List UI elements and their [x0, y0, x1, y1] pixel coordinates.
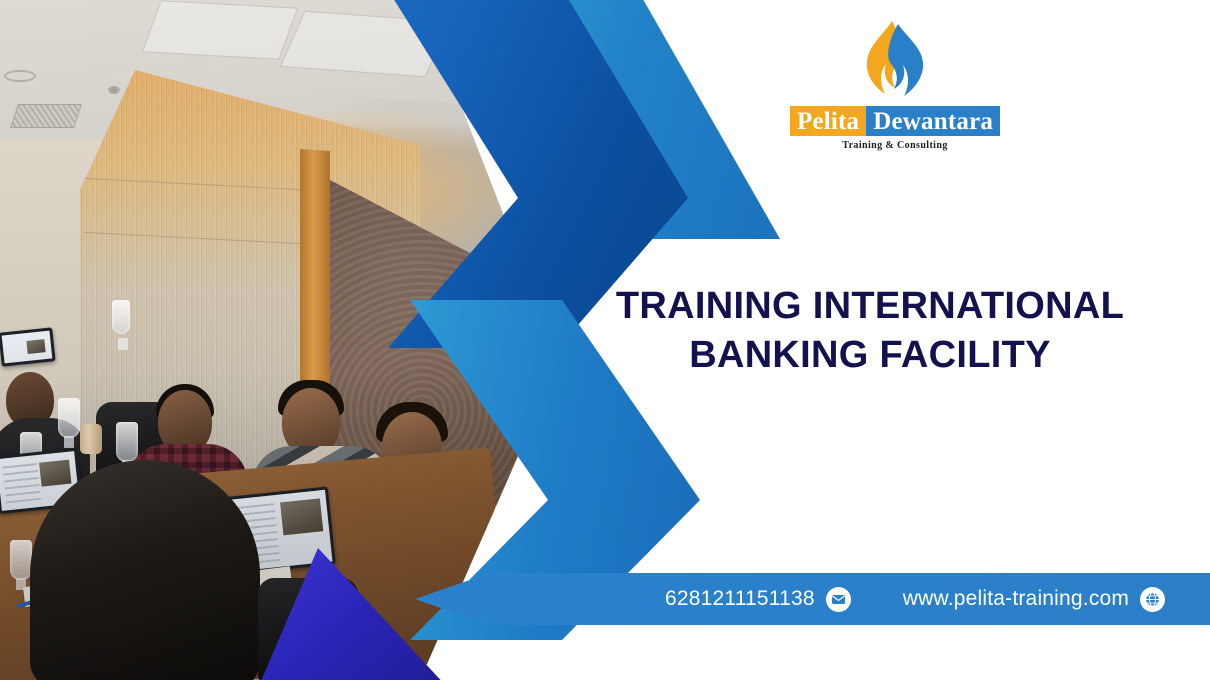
pelita-dewantara-logo: Pelita Dewantara Training & Consulting — [795, 18, 995, 158]
contact-bar: 6281211151138 www.pelita-training.com — [415, 573, 1210, 625]
flame-icon — [795, 18, 995, 106]
participant-person — [30, 460, 260, 680]
laptop-screen — [2, 331, 53, 364]
laptop-content — [2, 463, 41, 508]
water-glass — [112, 300, 130, 334]
ceiling-vent — [10, 104, 82, 128]
page-title-line-2: BANKING FACILITY — [580, 331, 1160, 380]
banner-root: Pelita Dewantara Training & Consulting T… — [0, 0, 1210, 680]
logo-word-dewantara: Dewantara — [866, 106, 1000, 136]
ceiling-light-icon — [4, 70, 36, 82]
envelope-icon[interactable] — [826, 587, 851, 612]
ceiling-sprinkler-icon — [108, 86, 120, 94]
water-glass — [10, 540, 32, 580]
laptop — [0, 327, 56, 366]
water-glass — [116, 422, 138, 462]
logo-word-pelita: Pelita — [790, 106, 866, 136]
tumbler — [80, 424, 102, 454]
contact-website-label: www.pelita-training.com — [903, 587, 1129, 611]
contact-phone[interactable]: 6281211151138 — [665, 587, 851, 612]
contact-website[interactable]: www.pelita-training.com — [903, 587, 1165, 612]
water-glass — [58, 398, 80, 438]
ceiling-tile — [142, 0, 298, 59]
globe-icon[interactable] — [1140, 587, 1165, 612]
logo-wordmark: Pelita Dewantara — [803, 106, 987, 136]
page-title: TRAINING INTERNATIONAL BANKING FACILITY — [580, 282, 1160, 379]
page-title-line-1: TRAINING INTERNATIONAL — [580, 282, 1160, 331]
contact-phone-label: 6281211151138 — [665, 587, 815, 611]
logo-tagline: Training & Consulting — [795, 140, 995, 151]
